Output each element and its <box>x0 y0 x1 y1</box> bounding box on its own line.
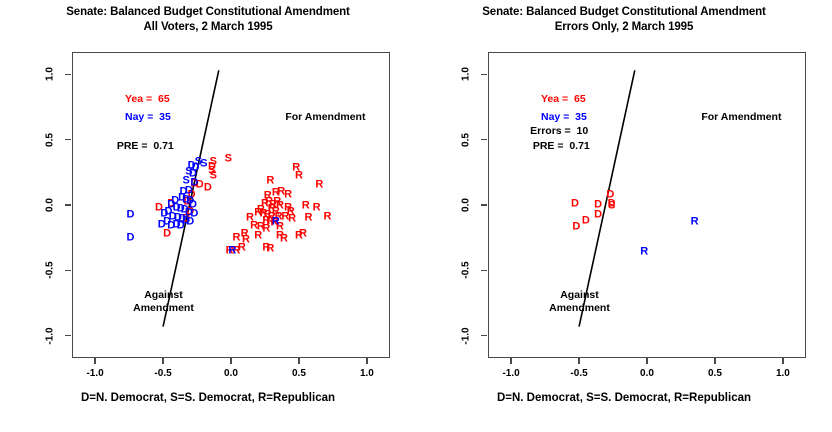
y-axis-tick <box>65 335 71 336</box>
x-axis-tick <box>510 358 511 364</box>
x-axis-tick-label: 0.5 <box>292 368 306 379</box>
panel-title-line2: Errors Only, 2 March 1995 <box>416 20 832 35</box>
panel-title: Senate: Balanced Budget Constitutional A… <box>0 5 416 35</box>
x-axis-label: D=N. Democrat, S=S. Democrat, R=Republic… <box>0 392 416 404</box>
panel-all-voters: Senate: Balanced Budget Constitutional A… <box>0 0 416 432</box>
x-axis-tick-label: 0.0 <box>224 368 238 379</box>
x-axis-tick-label: 1.0 <box>776 368 790 379</box>
y-axis-tick-label: 1.0 <box>461 67 472 81</box>
x-axis-tick-label: -0.5 <box>570 368 587 379</box>
x-axis-tick-label: -0.5 <box>154 368 171 379</box>
x-axis-tick <box>298 358 299 364</box>
y-axis-tick-label: -1.0 <box>461 327 472 344</box>
y-axis-tick <box>481 270 487 271</box>
x-axis-tick <box>578 358 579 364</box>
y-axis-tick <box>481 204 487 205</box>
panel-title: Senate: Balanced Budget Constitutional A… <box>416 5 832 35</box>
y-axis-tick-label: 0.0 <box>461 198 472 212</box>
panel-title-line1: Senate: Balanced Budget Constitutional A… <box>66 6 350 18</box>
x-axis-tick-label: 1.0 <box>360 368 374 379</box>
panel-title-line1: Senate: Balanced Budget Constitutional A… <box>482 6 766 18</box>
y-axis-tick <box>65 74 71 75</box>
y-axis-tick <box>481 139 487 140</box>
y-axis-tick-label: 0.5 <box>45 133 56 147</box>
y-axis-tick <box>481 335 487 336</box>
x-axis-tick-label: 0.0 <box>640 368 654 379</box>
panel-title-line2: All Voters, 2 March 1995 <box>0 20 416 35</box>
y-axis-tick-label: -0.5 <box>461 262 472 279</box>
x-axis-tick-label: 0.5 <box>708 368 722 379</box>
x-axis-tick-label: -1.0 <box>86 368 103 379</box>
x-axis-tick <box>162 358 163 364</box>
panel-errors-only: Senate: Balanced Budget Constitutional A… <box>416 0 832 432</box>
y-axis-tick <box>65 270 71 271</box>
x-axis-tick <box>366 358 367 364</box>
y-axis-tick-label: -1.0 <box>45 327 56 344</box>
x-axis-tick <box>230 358 231 364</box>
x-axis-tick <box>646 358 647 364</box>
plot-area <box>488 52 806 358</box>
figure-root: Senate: Balanced Budget Constitutional A… <box>0 0 832 432</box>
plot-area <box>72 52 390 358</box>
y-axis-tick <box>65 204 71 205</box>
y-axis-tick-label: 0.0 <box>45 198 56 212</box>
x-axis-tick-label: -1.0 <box>502 368 519 379</box>
y-axis-tick-label: -0.5 <box>45 262 56 279</box>
x-axis-tick <box>782 358 783 364</box>
x-axis-label: D=N. Democrat, S=S. Democrat, R=Republic… <box>416 392 832 404</box>
y-axis-tick-label: 0.5 <box>461 133 472 147</box>
x-axis-tick <box>714 358 715 364</box>
x-axis-tick <box>94 358 95 364</box>
y-axis-tick-label: 1.0 <box>45 67 56 81</box>
y-axis-tick <box>481 74 487 75</box>
y-axis-tick <box>65 139 71 140</box>
